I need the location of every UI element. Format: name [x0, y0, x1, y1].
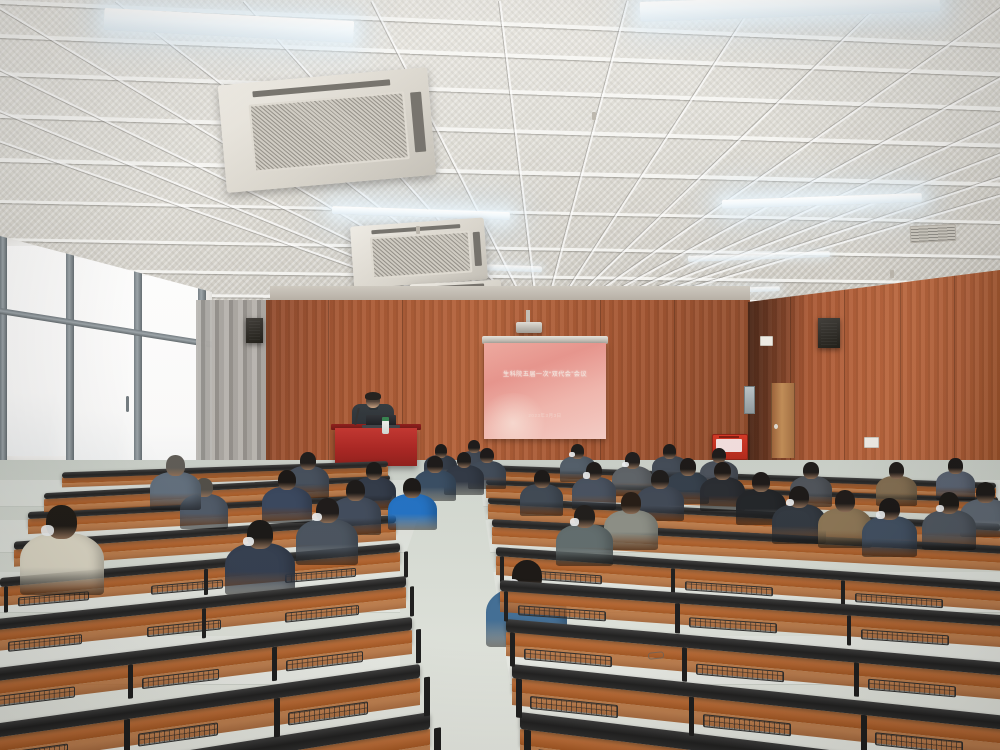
sprinkler-icon	[416, 226, 420, 234]
face-mask	[243, 537, 254, 547]
sprinkler-icon	[592, 112, 596, 120]
attendee-front-left-beige	[20, 505, 104, 601]
ac-grille	[370, 231, 473, 279]
desk-leg	[202, 608, 206, 638]
wall-speaker	[818, 318, 840, 348]
face-mask	[570, 518, 579, 526]
ac-grille	[249, 91, 410, 173]
laptop-base	[362, 425, 400, 428]
face-mask	[41, 525, 54, 537]
ceiling-projector-icon	[516, 322, 542, 333]
attendee-head	[948, 458, 962, 474]
attendee-head	[534, 470, 550, 488]
desk-leg	[410, 586, 414, 616]
attendee-bright-blue	[388, 478, 437, 534]
water-bottle	[382, 420, 389, 434]
lecture-hall-photo: 生科院五届一次“双代会”会议 2023年3月3日	[0, 0, 1000, 750]
face-mask	[786, 499, 794, 506]
face-mask	[622, 462, 628, 468]
attendee-torso	[388, 494, 437, 530]
attendee-head	[976, 482, 995, 503]
desk-leg	[424, 677, 430, 717]
face-mask	[583, 472, 590, 478]
attendee-torso	[862, 516, 917, 557]
desk-leg	[404, 552, 408, 578]
desk-leg	[854, 662, 859, 697]
desk-leg	[671, 569, 675, 595]
desk-leg	[124, 719, 130, 750]
attendee-head	[366, 462, 382, 480]
attendee-head	[752, 472, 770, 492]
desk-leg	[675, 603, 679, 633]
desk-leg	[416, 629, 421, 664]
attendee-head	[403, 478, 421, 498]
face-mask	[876, 511, 885, 519]
side-door[interactable]	[771, 383, 795, 458]
desk-leg	[204, 569, 208, 595]
attendee-gray-suit	[296, 498, 358, 569]
attendee-far-right2	[922, 492, 976, 554]
desk-leg	[434, 727, 441, 750]
attendee-torso	[150, 472, 201, 510]
desk-leg	[4, 587, 8, 613]
attendee-head	[457, 452, 472, 468]
attendee-head	[835, 490, 855, 512]
ceiling-vent-grille	[910, 224, 957, 243]
attendee-torso	[922, 510, 976, 550]
attendee-window-row	[150, 455, 201, 514]
presenter-hair	[365, 392, 381, 400]
ceiling-air-conditioner	[218, 67, 437, 193]
attendee-torso	[296, 519, 358, 565]
wall-frame	[744, 386, 755, 414]
ac-vent-slat	[473, 231, 482, 266]
bottle-cap	[382, 417, 389, 421]
desk-leg	[861, 715, 867, 750]
wall-outlet-plate[interactable]	[864, 437, 879, 448]
attendee-head	[803, 462, 819, 479]
attendee-head	[714, 462, 731, 480]
desk-leg	[847, 615, 851, 645]
desk-leg	[274, 698, 280, 738]
attendee-head	[889, 462, 904, 479]
wall-speaker	[246, 318, 263, 343]
desk-leg	[504, 591, 508, 621]
attendee-head	[300, 452, 316, 470]
attendee-torso	[225, 543, 295, 595]
attendee-head	[166, 455, 185, 476]
door-knob-icon[interactable]	[774, 424, 778, 429]
desk-leg	[689, 697, 695, 737]
face-mask	[569, 452, 575, 457]
attendee-head	[278, 470, 296, 490]
slide-date: 2023年3月3日	[484, 413, 606, 419]
attendee-head	[663, 444, 676, 459]
face-mask	[936, 505, 944, 512]
speaker-podium	[335, 428, 417, 466]
desk-leg	[516, 679, 522, 719]
attendee-head	[621, 492, 641, 514]
desk-leg	[682, 647, 687, 682]
desk-leg	[524, 729, 531, 750]
ac-vent-slat	[410, 91, 426, 152]
desk-leg	[510, 632, 515, 667]
face-mask	[312, 513, 322, 522]
attendee-torso	[20, 533, 104, 595]
desk-leg	[128, 664, 133, 699]
slide-title: 生科院五届一次“双代会”会议	[484, 369, 606, 378]
window-latch-handle[interactable]	[126, 396, 129, 412]
sprinkler-icon	[890, 270, 894, 278]
attendee-head	[427, 456, 443, 473]
wall-switch-plate[interactable]	[760, 336, 773, 346]
projection-screen: 生科院五届一次“双代会”会议 2023年3月3日	[484, 343, 606, 439]
desk-leg	[272, 646, 277, 681]
attendee-head	[651, 470, 669, 489]
ballot-box-slot	[719, 436, 739, 438]
desk-leg	[841, 580, 845, 606]
attendee-far-right	[862, 498, 917, 561]
